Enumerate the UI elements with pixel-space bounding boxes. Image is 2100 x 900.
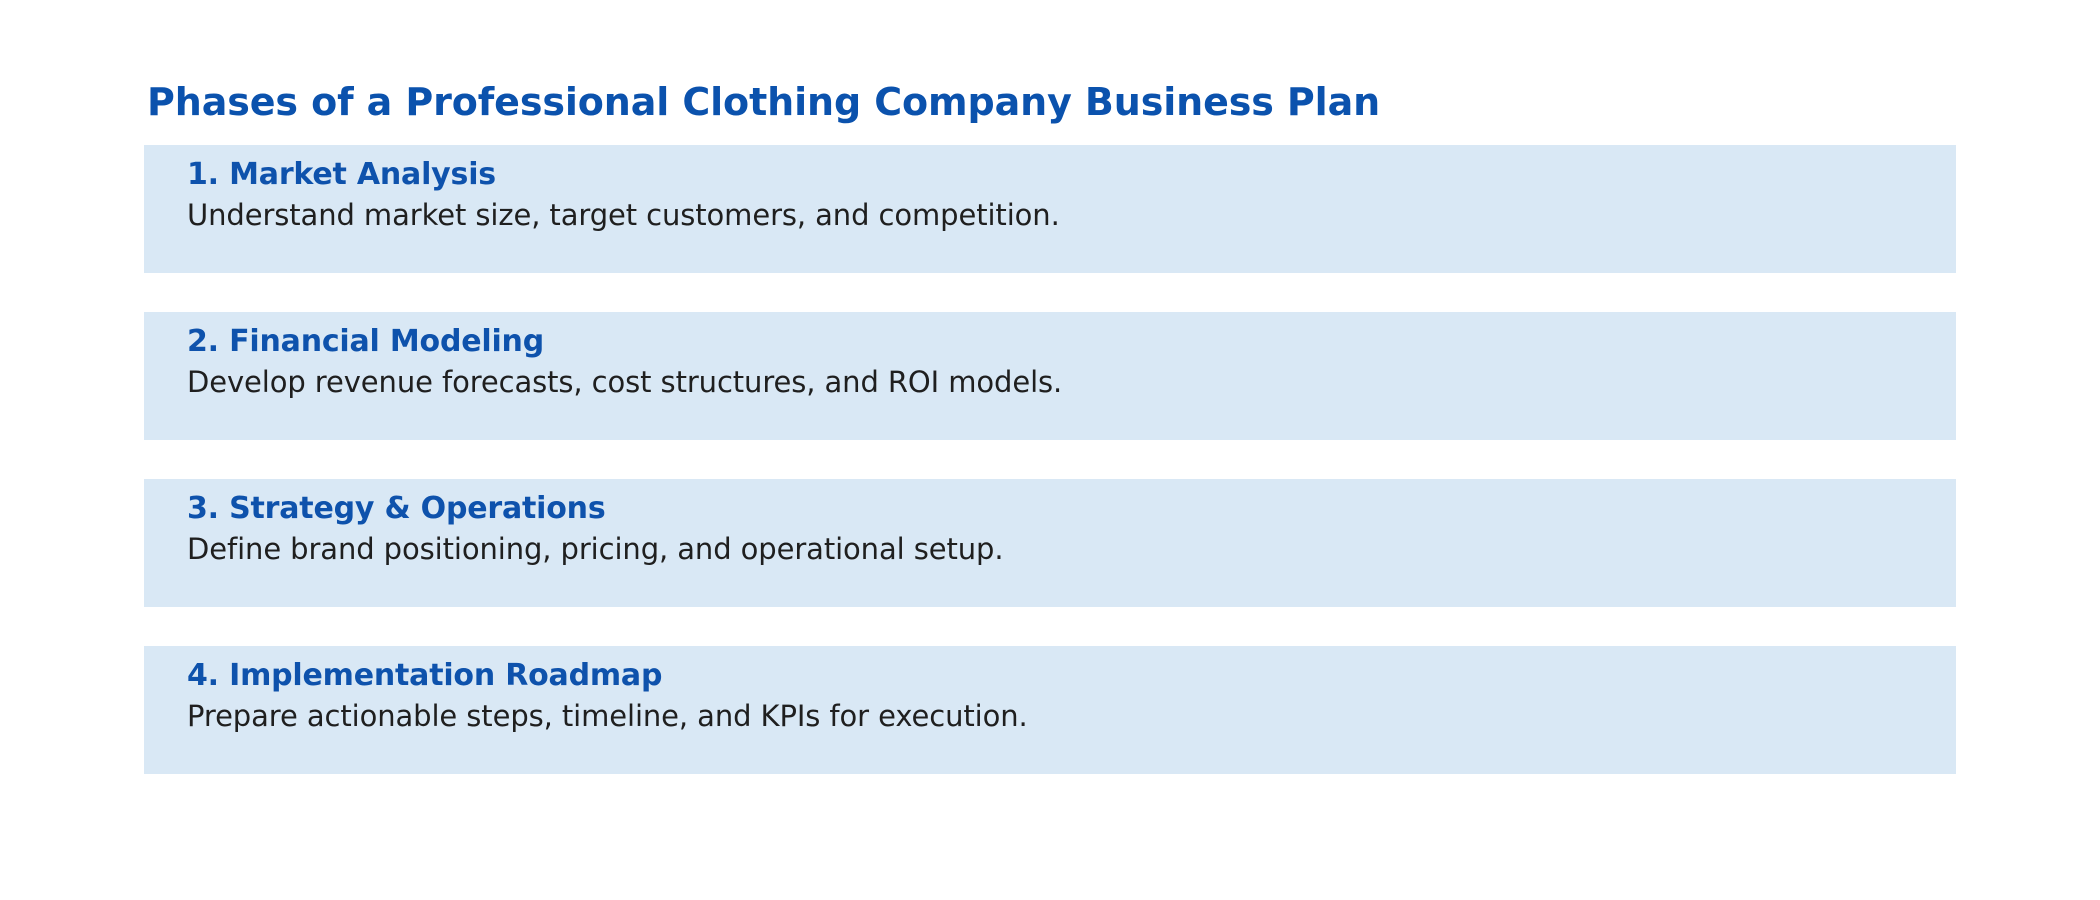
phase-card-4[interactable]: 4. Implementation Roadmap Prepare action… (144, 646, 1956, 774)
phase-card-1[interactable]: 1. Market Analysis Understand market siz… (144, 145, 1956, 273)
page-title: Phases of a Professional Clothing Compan… (147, 83, 1380, 123)
phase-heading: 3. Strategy & Operations (187, 489, 1956, 529)
phase-list: 1. Market Analysis Understand market siz… (144, 145, 1956, 774)
phase-description: Understand market size, target customers… (187, 195, 1956, 235)
phase-heading: 4. Implementation Roadmap (187, 656, 1956, 696)
phase-heading: 1. Market Analysis (187, 155, 1956, 195)
slide-canvas: Phases of a Professional Clothing Compan… (0, 0, 2100, 900)
phase-description: Prepare actionable steps, timeline, and … (187, 696, 1956, 736)
phase-card-2[interactable]: 2. Financial Modeling Develop revenue fo… (144, 312, 1956, 440)
phase-heading: 2. Financial Modeling (187, 322, 1956, 362)
phase-description: Develop revenue forecasts, cost structur… (187, 362, 1956, 402)
phase-card-3[interactable]: 3. Strategy & Operations Define brand po… (144, 479, 1956, 607)
phase-description: Define brand positioning, pricing, and o… (187, 529, 1956, 569)
